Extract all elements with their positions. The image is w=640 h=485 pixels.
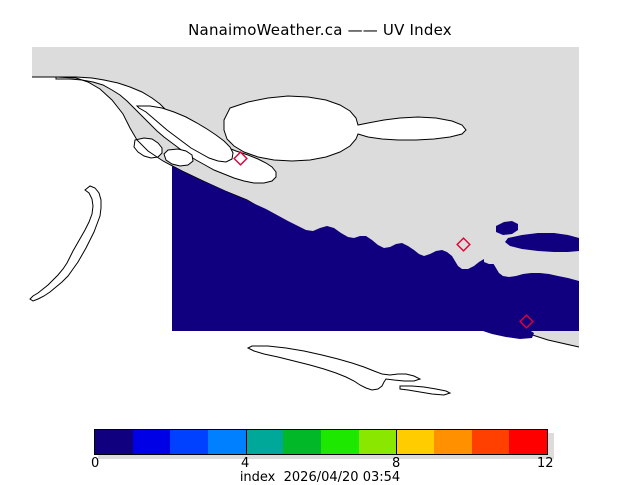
colorbar-band-10 xyxy=(472,430,510,454)
uv-index-map-page: NanaimoWeather.ca —— UV Index xyxy=(0,0,640,480)
colorbar-band-5 xyxy=(283,430,321,454)
page-title: NanaimoWeather.ca —— UV Index xyxy=(0,21,640,39)
colorbar-caption: index 2026/04/20 03:54 xyxy=(0,470,640,485)
colorbar-band-11 xyxy=(509,430,547,454)
colorbar-band-6 xyxy=(321,430,359,454)
colorbar-tick-8: 8 xyxy=(392,456,400,471)
colorbar-band-4 xyxy=(246,430,284,454)
colorbar-band-3 xyxy=(208,430,246,454)
colorbar-legend: 0 4 8 12 index 2026/04/20 03:54 xyxy=(0,418,640,480)
colorbar-band-1 xyxy=(133,430,171,454)
colorbar-tick-12: 12 xyxy=(537,456,554,471)
colorbar-gradient[interactable] xyxy=(94,429,548,455)
colorbar-band-2 xyxy=(170,430,208,454)
colorbar-band-0 xyxy=(95,430,133,454)
colorbar-tick-4: 4 xyxy=(241,456,249,471)
colorbar-tick-0: 0 xyxy=(91,456,99,471)
colorbar-band-7 xyxy=(359,430,397,454)
colorbar-band-8 xyxy=(396,430,434,454)
map-canvas[interactable] xyxy=(0,40,640,410)
map-svg xyxy=(0,40,640,410)
colorbar-band-9 xyxy=(434,430,472,454)
